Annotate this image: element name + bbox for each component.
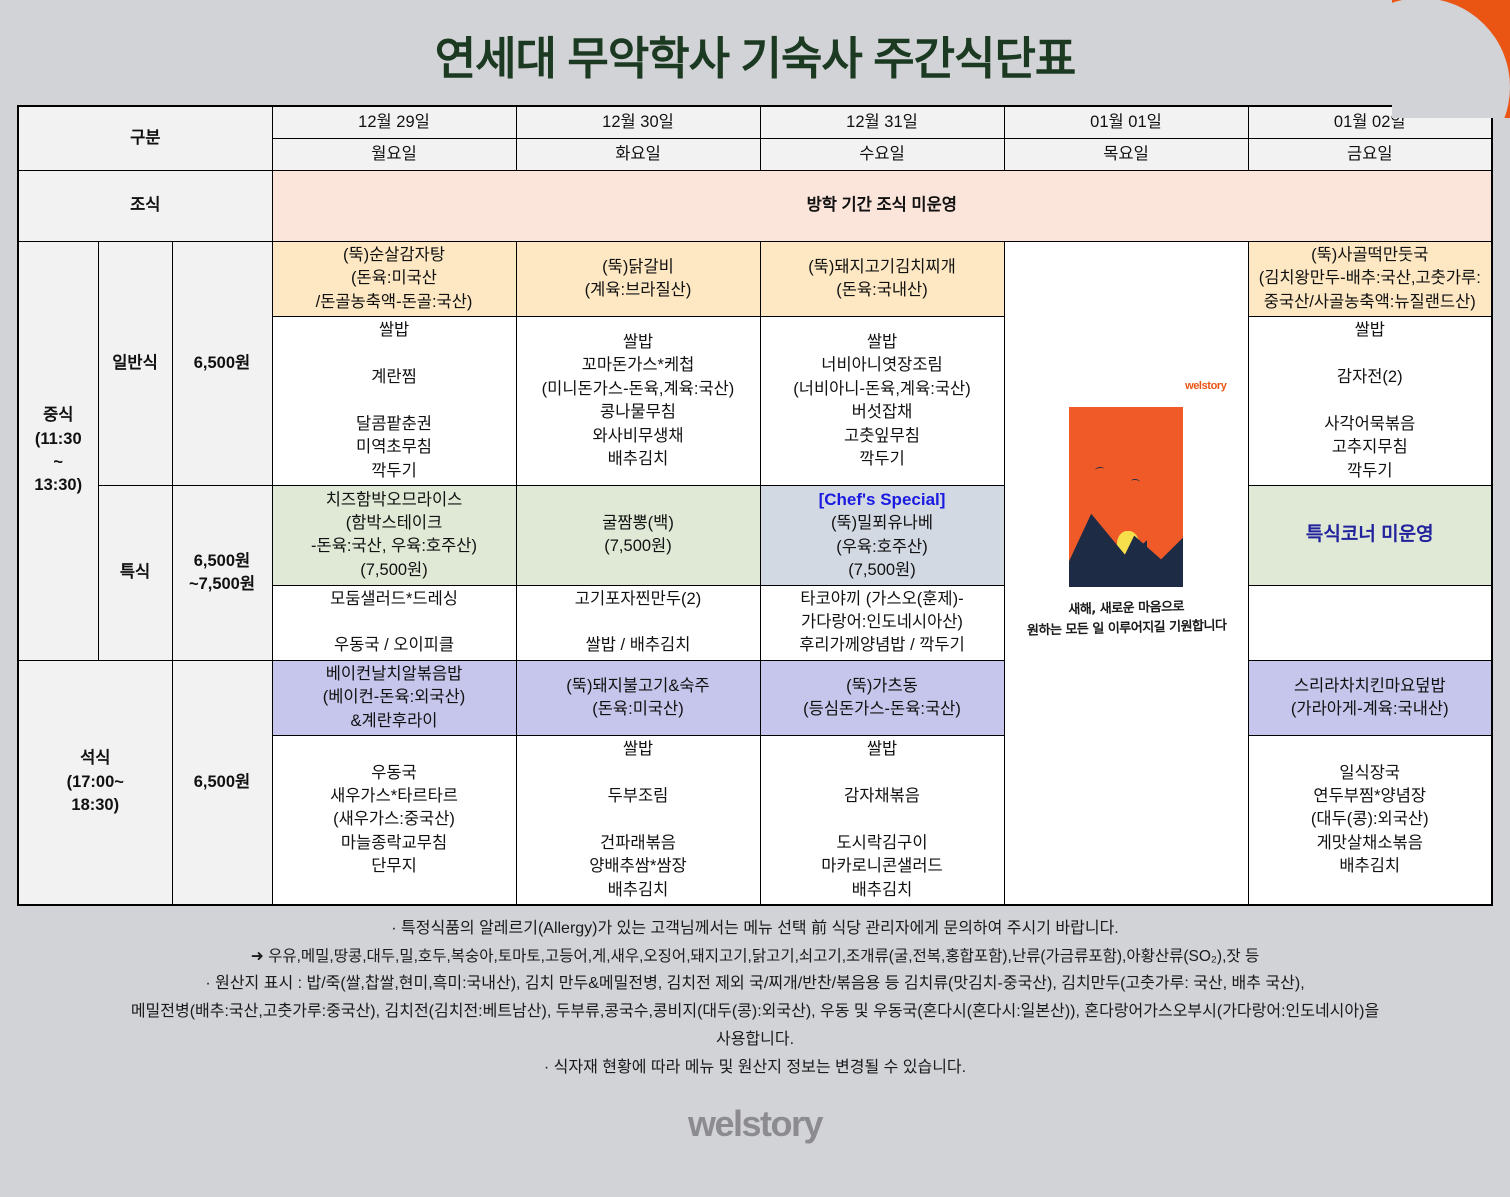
footer-note-change: · 식자재 현황에 따라 메뉴 및 원산지 정보는 변경될 수 있습니다. xyxy=(19,1055,1491,1081)
lunch-general-label: 일반식 xyxy=(98,242,172,486)
lunch-label-line3: ~ xyxy=(22,451,95,474)
chef-special-tag: [Chef's Special] xyxy=(764,488,1001,512)
lunch-general-sides-fri: 쌀밥 감자전(2) 사각어묵볶음고추지무침깍두기 xyxy=(1248,317,1492,486)
dinner-main-tue: (뚝)돼지불고기&숙주(돈육:미국산) xyxy=(516,660,760,735)
header-date-wed: 12월 31일 xyxy=(760,106,1004,139)
dinner-main-wed: (뚝)가츠동(등심돈가스-돈육:국산) xyxy=(760,660,1004,735)
lunch-label: 중식 (11:30 ~ 13:30) xyxy=(18,242,98,661)
breakfast-row: 조식 방학 기간 조식 미운영 xyxy=(18,171,1492,242)
header-weekday-mon: 월요일 xyxy=(272,139,516,171)
header-weekday-thu: 목요일 xyxy=(1004,139,1248,171)
breakfast-label: 조식 xyxy=(18,171,272,242)
header-date-thu: 01월 01일 xyxy=(1004,106,1248,139)
dinner-label: 석식 (17:00~ 18:30) xyxy=(18,660,172,905)
lunch-special-main-wed: [Chef's Special] (뚝)밀푀유나베(우육:호주산)(7,500원… xyxy=(760,486,1004,585)
page-title: 연세대 무악학사 기숙사 주간식단표 xyxy=(0,0,1510,105)
footer-note-allergen-list: ➜ 우유,메밀,땅콩,대두,밀,호두,복숭아,토마토,고등어,게,새우,오징어,… xyxy=(19,944,1491,969)
lunch-special-label: 특식 xyxy=(98,486,172,661)
dinner-sides-mon: 우동국새우가스*타르타르(새우가스:중국산)마늘종락교무침단무지 xyxy=(272,736,516,905)
welstory-wordmark: welstory xyxy=(688,1103,822,1145)
lunch-label-line4: 13:30) xyxy=(22,474,95,497)
header-weekday-fri: 금요일 xyxy=(1248,139,1492,171)
lunch-general-sides-wed: 쌀밥너비아니엿장조림(너비아니-돈육,계육:국산)버섯잡채고춧잎무침깍두기 xyxy=(760,317,1004,486)
dinner-sides-wed: 쌀밥 감자채볶음 도시락김구이마카로니콘샐러드배추김치 xyxy=(760,736,1004,905)
lunch-general-main-tue: (뚝)닭갈비(계육:브라질산) xyxy=(516,242,760,317)
breakfast-notice: 방학 기간 조식 미운영 xyxy=(272,171,1492,242)
lunch-label-line1: 중식 xyxy=(22,404,95,427)
lunch-special-main-fri: 특식코너 미운영 xyxy=(1248,486,1492,585)
lunch-special-main-wed-text: (뚝)밀푀유나베(우육:호주산)(7,500원) xyxy=(764,512,1001,582)
lunch-general-sides-mon: 쌀밥 계란찜 달콤팥춘권미역초무침깍두기 xyxy=(272,317,516,486)
lunch-special-main-tue: 굴짬뽕(백)(7,500원) xyxy=(516,486,760,585)
footer-note-allergen-text: 우유,메밀,땅콩,대두,밀,호두,복숭아,토마토,고등어,게,새우,오징어,돼지… xyxy=(268,948,1259,965)
dinner-label-line3: 18:30) xyxy=(22,794,169,817)
lunch-special-sides-wed: 타코야끼 (가스오(훈제)-가다랑어:인도네시아산)후리가께양념밥 / 깍두기 xyxy=(760,585,1004,660)
lunch-special-main-row: 특식 6,500원 ~7,500원 치즈함박오므라이스(함박스테이크-돈육:국산… xyxy=(18,486,1492,585)
sunrise-poster-image xyxy=(1069,407,1183,587)
bird-icon xyxy=(1095,466,1105,472)
dinner-sides-tue: 쌀밥 두부조림 건파래볶음양배추쌈*쌈장배추김치 xyxy=(516,736,760,905)
dinner-label-line2: (17:00~ xyxy=(22,771,169,794)
lunch-special-main-mon: 치즈함박오므라이스(함박스테이크-돈육:국산, 우육:호주산)(7,500원) xyxy=(272,486,516,585)
lunch-special-price-line2: ~7,500원 xyxy=(176,573,269,596)
header-weekday-tue: 화요일 xyxy=(516,139,760,171)
weekly-menu-table: 구분 12월 29일 12월 30일 12월 31일 01월 01일 01월 0… xyxy=(17,105,1493,906)
dinner-sides-fri: 일식장국연두부찜*양념장(대두(콩):외국산)게맛살채소볶음배추김치 xyxy=(1248,736,1492,905)
arrow-icon: ➜ xyxy=(251,948,264,965)
new-year-greeting: 새해, 새로운 마음으로 원하는 모든 일 이루어지길 기원합니다 xyxy=(1007,596,1245,641)
footer-note-origin-3: 사용합니다. xyxy=(19,1027,1491,1053)
lunch-special-sides-tue: 고기포자찐만두(2) 쌀밥 / 배추김치 xyxy=(516,585,760,660)
header-date-tue: 12월 30일 xyxy=(516,106,760,139)
lunch-general-main-fri: (뚝)사골떡만둣국(김치왕만두-배추:국산,고춧가루:중국산/사골농축액:뉴질랜… xyxy=(1248,242,1492,317)
dinner-label-line1: 석식 xyxy=(22,747,169,770)
lunch-general-price: 6,500원 xyxy=(172,242,272,486)
lunch-general-main-row: 중식 (11:30 ~ 13:30) 일반식 6,500원 (뚝)순살감자탕(돈… xyxy=(18,242,1492,317)
welstory-mini-logo: welstory xyxy=(1185,379,1226,395)
lunch-general-main-mon: (뚝)순살감자탕(돈육:미국산/돈골농축액-돈골:국산) xyxy=(272,242,516,317)
dinner-main-fri: 스리라차치킨마요덮밥(가라아게-계육:국내산) xyxy=(1248,660,1492,735)
lunch-label-line2: (11:30 xyxy=(22,428,95,451)
corner-decoration xyxy=(1392,0,1510,118)
special-corner-closed-notice: 특식코너 미운영 xyxy=(1306,524,1434,545)
footer-note-allergy: · 특정식품의 알레르기(Allergy)가 있는 고객님께서는 메뉴 선택 前… xyxy=(19,916,1491,942)
dinner-price: 6,500원 xyxy=(172,660,272,905)
lunch-general-main-wed: (뚝)돼지고기김치찌개(돈육:국내산) xyxy=(760,242,1004,317)
footer-note-origin-1: · 원산지 표시 : 밥/죽(쌀,찹쌀,현미,흑미:국내산), 김치 만두&메밀… xyxy=(19,971,1491,997)
lunch-general-sides-tue: 쌀밥꼬마돈가스*케첩(미니돈가스-돈육,계육:국산)콩나물무침와사비무생채배추김… xyxy=(516,317,760,486)
new-year-illustration-cell: welstory 새해, 새로운 마음으로 원하는 모든 일 이루어지길 기원합… xyxy=(1004,242,1248,906)
table-header-date-row: 구분 12월 29일 12월 30일 12월 31일 01월 01일 01월 0… xyxy=(18,106,1492,139)
footer-note-origin-2: 메밀전병(배추:국산,고춧가루:중국산), 김치전(김치전:베트남산), 두부류… xyxy=(19,999,1491,1025)
lunch-special-sides-mon: 모둠샐러드*드레싱 우동국 / 오이피클 xyxy=(272,585,516,660)
dinner-main-mon: 베이컨날치알볶음밥(베이컨-돈육:외국산)&계란후라이 xyxy=(272,660,516,735)
header-date-mon: 12월 29일 xyxy=(272,106,516,139)
lunch-special-price: 6,500원 ~7,500원 xyxy=(172,486,272,661)
header-weekday-wed: 수요일 xyxy=(760,139,1004,171)
lunch-special-price-line1: 6,500원 xyxy=(176,550,269,573)
bird-icon xyxy=(1131,479,1140,485)
dinner-main-row: 석식 (17:00~ 18:30) 6,500원 베이컨날치알볶음밥(베이컨-돈… xyxy=(18,660,1492,735)
footer-notes: · 특정식품의 알레르기(Allergy)가 있는 고객님께서는 메뉴 선택 前… xyxy=(19,916,1491,1081)
lunch-special-sides-fri xyxy=(1248,585,1492,660)
welstory-footer-logo: welstory xyxy=(0,1103,1510,1145)
header-gubun: 구분 xyxy=(18,106,272,171)
